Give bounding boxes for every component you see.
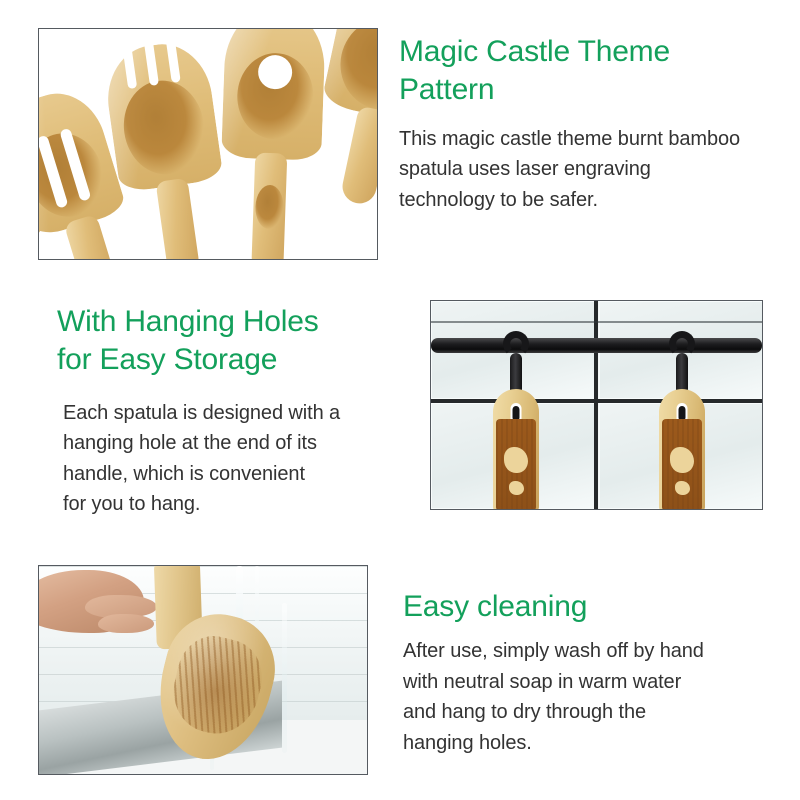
product-photo-spatula-set [38,28,378,260]
tile-grout-line [594,301,598,509]
tile-wall-illustration [431,301,762,509]
section-2-body: Each spatula is designed with a hanging … [63,398,407,520]
spatula-3-handle [156,178,201,260]
handle-2-engraved-motif [670,447,694,473]
product-photo-hanging-storage [430,300,763,510]
section-1-heading: Magic Castle Theme Pattern [399,33,791,110]
spoon-4 [217,28,326,260]
section-1-text-block: Magic Castle Theme Pattern This magic ca… [399,33,791,215]
section-1-body: This magic castle theme burnt bamboo spa… [399,124,791,215]
sink-scene-illustration [39,566,367,774]
section-2-text-block: With Hanging Holes for Easy Storage Each… [57,303,407,519]
spatula-5-handle [339,106,378,207]
section-3-body: After use, simply wash off by hand with … [403,636,779,758]
spatula-handle-1 [493,389,539,510]
section-2-heading: With Hanging Holes for Easy Storage [57,303,407,380]
tile-grout-line [431,321,762,323]
spatula-2-handle [64,214,122,260]
hanging-rail [431,338,762,353]
section-3-heading: Easy cleaning [403,588,779,626]
section-3-text-block: Easy cleaning After use, simply wash off… [403,588,779,758]
handle-1-engraved-motif [509,481,524,495]
product-feature-infographic: Magic Castle Theme Pattern This magic ca… [0,0,800,800]
spatula-set-illustration [39,29,377,259]
product-photo-easy-cleaning [38,565,368,775]
tile-grout-line [431,399,762,403]
spatula-handle-2 [659,389,705,510]
handle-1-engraved-motif [504,447,528,473]
spoon-laser-engraving [164,629,270,743]
handle-2-engraved-motif [675,481,690,495]
